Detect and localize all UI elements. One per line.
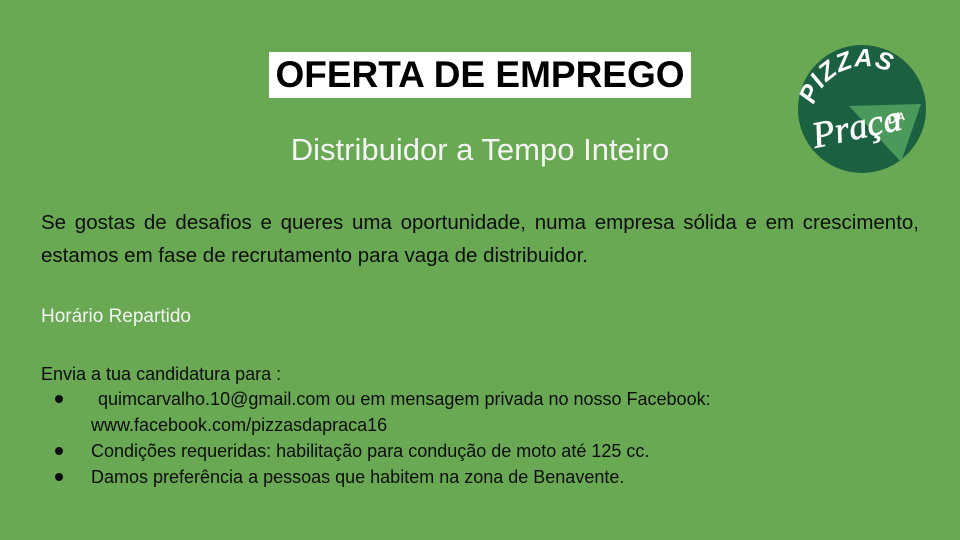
list-item: Damos preferência a pessoas que habitem … — [41, 464, 921, 490]
requirements-list: quimcarvalho.10@gmail.com ou em mensagem… — [41, 386, 921, 490]
body-paragraph: Se gostas de desafios e queres uma oport… — [41, 206, 919, 272]
list-item-line2: www.facebook.com/pizzasdapraca16 — [91, 412, 921, 438]
apply-intro-text: Envia a tua candidatura para : — [41, 361, 281, 387]
slide-canvas: PIZZAS DA Praça OFERTA DE EMPREGO Distri… — [0, 0, 960, 540]
page-subtitle: Distribuidor a Tempo Inteiro — [0, 131, 960, 169]
list-item: Condições requeridas: habilitação para c… — [41, 438, 921, 464]
list-item-line1: Damos preferência a pessoas que habitem … — [91, 467, 624, 487]
list-item-line1: Condições requeridas: habilitação para c… — [91, 441, 649, 461]
bullet-dot-icon — [55, 395, 63, 403]
list-item: quimcarvalho.10@gmail.com ou em mensagem… — [41, 386, 921, 438]
list-item-line1: quimcarvalho.10@gmail.com ou em mensagem… — [91, 386, 921, 412]
page-title: OFERTA DE EMPREGO — [269, 52, 690, 98]
schedule-text: Horário Repartido — [41, 304, 191, 330]
bullet-dot-icon — [55, 447, 63, 455]
bullet-dot-icon — [55, 473, 63, 481]
title-container: OFERTA DE EMPREGO — [0, 52, 960, 98]
